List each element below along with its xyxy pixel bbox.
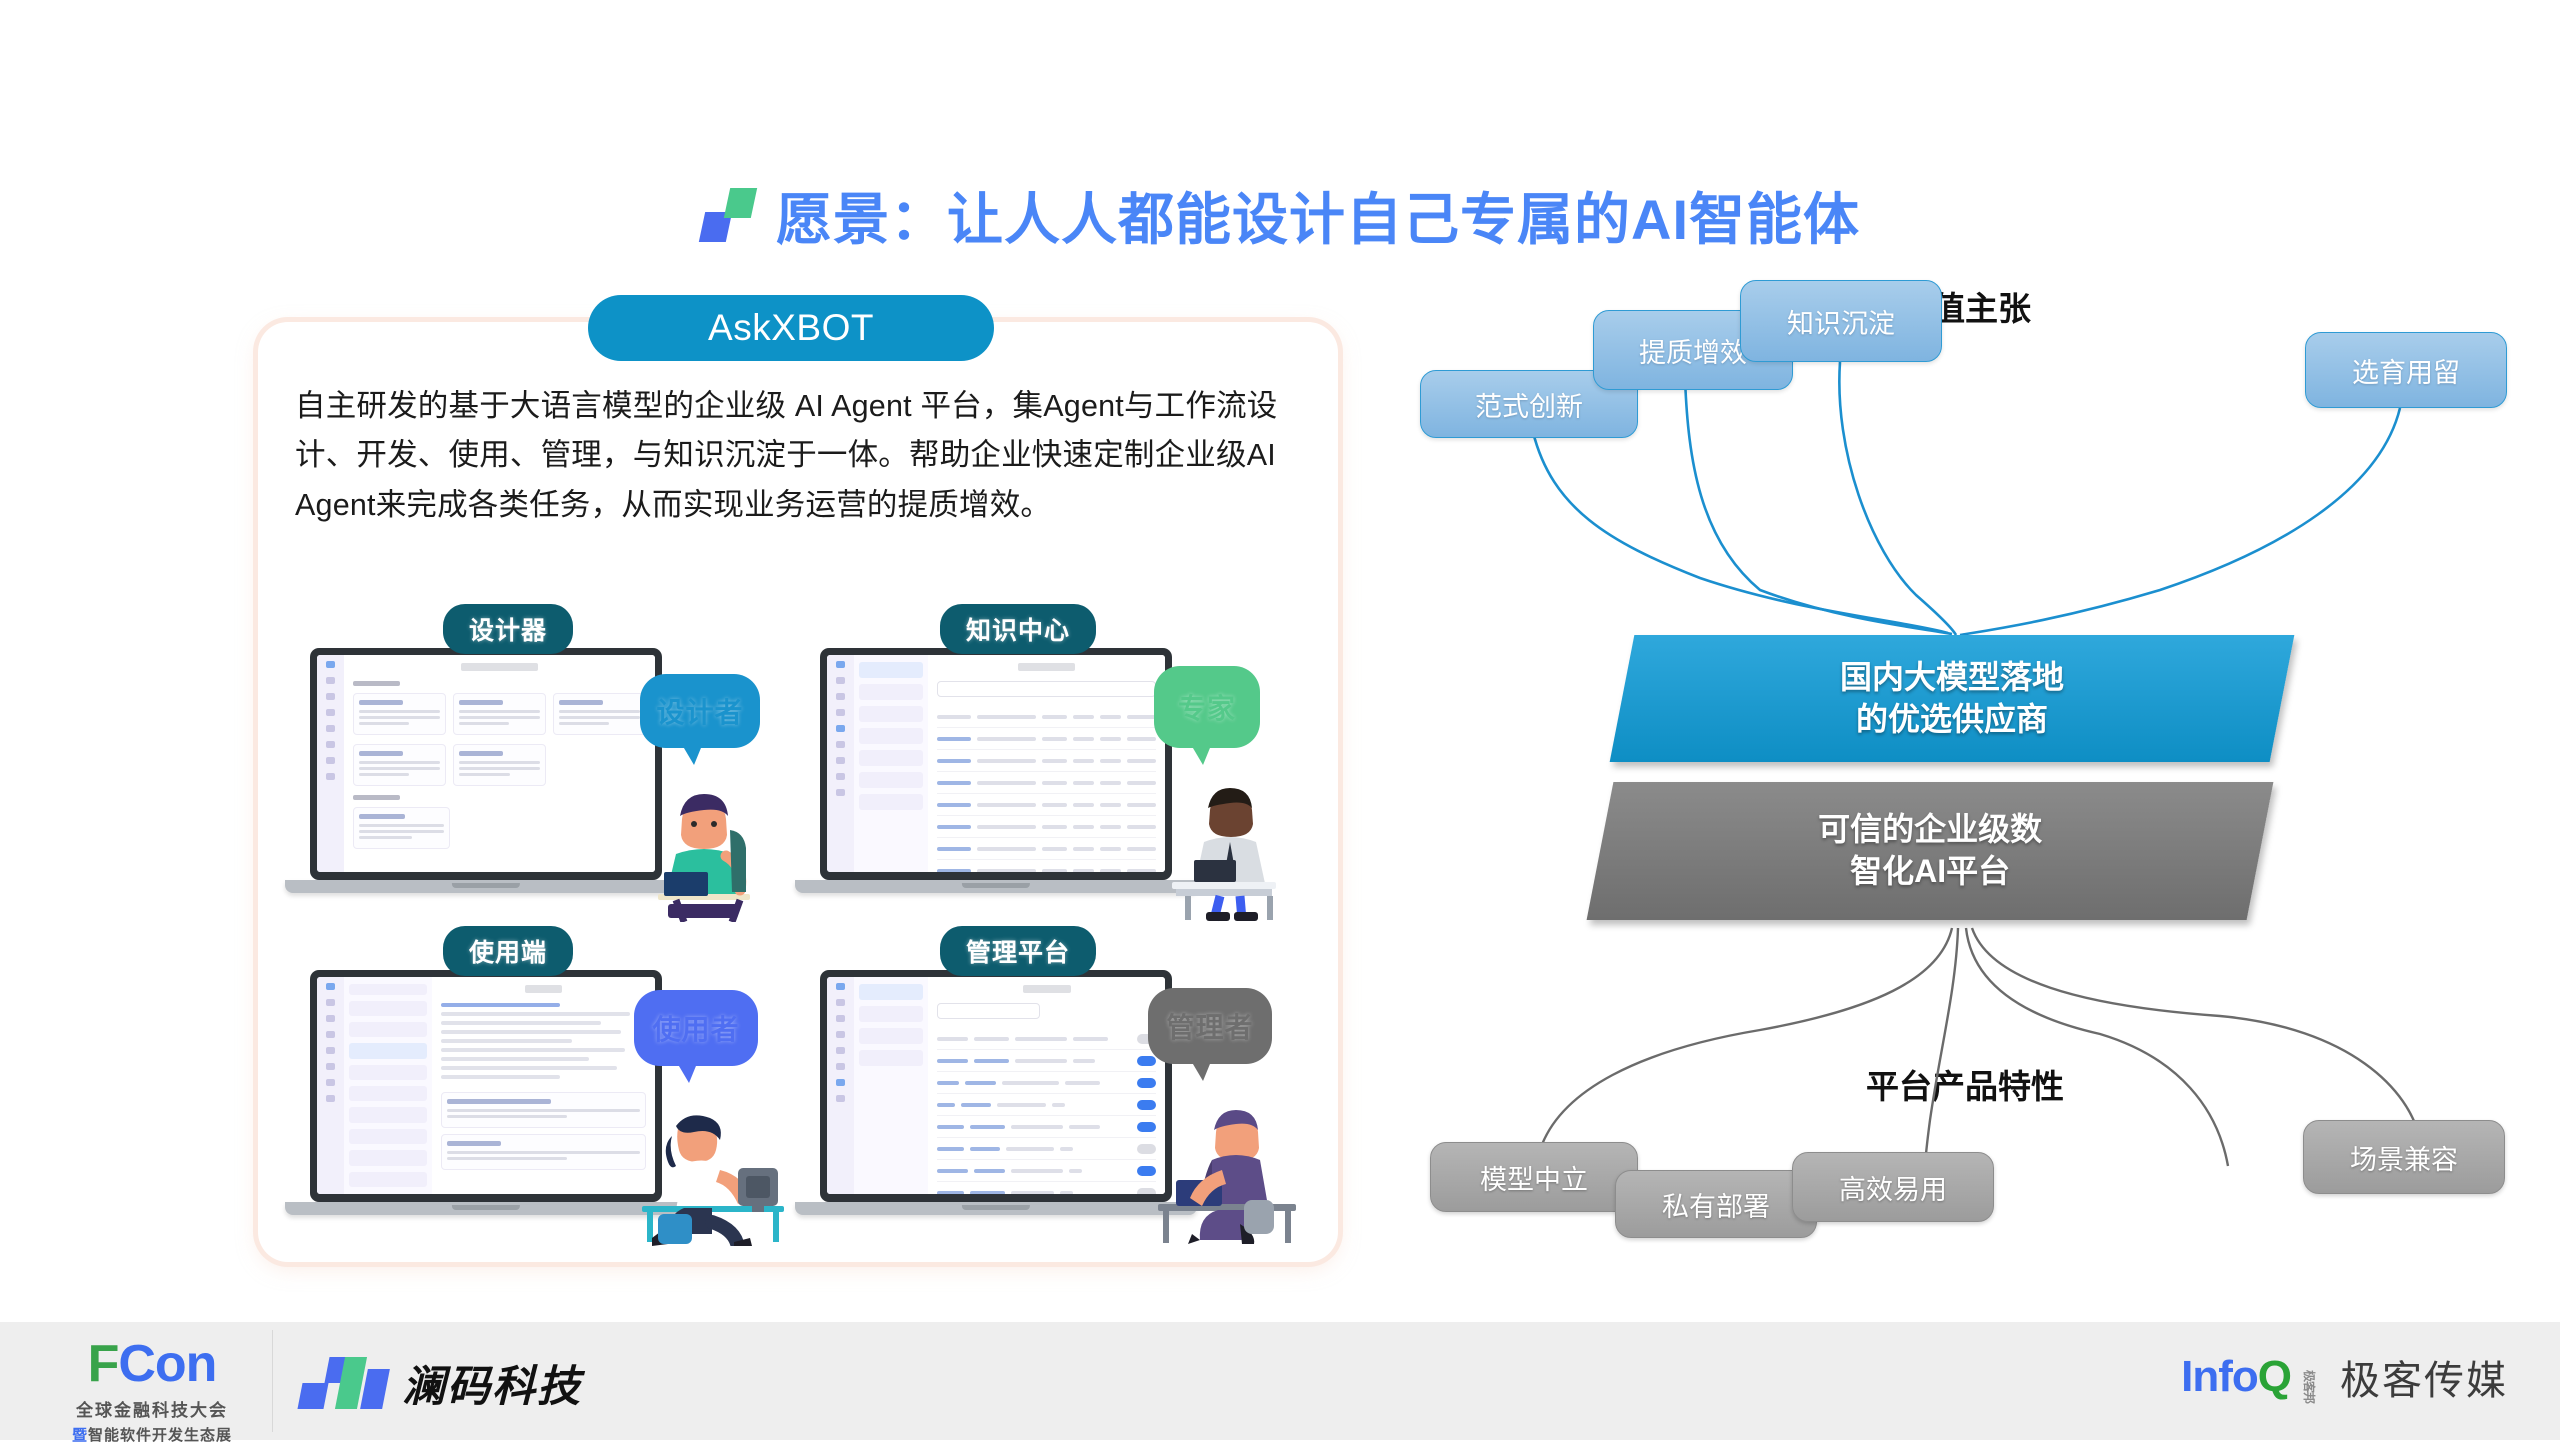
panel-knowledge: 知识中心 — [808, 604, 1228, 904]
page-title: 愿景：让人人都能设计自己专属的AI智能体 — [0, 170, 2560, 260]
screen-content-designer — [344, 655, 655, 872]
panel-tag-knowledge: 知识中心 — [940, 604, 1096, 654]
title-bullet-icon — [700, 188, 754, 242]
fcon-logo-con: Con — [118, 1335, 216, 1393]
footer-divider — [272, 1330, 273, 1432]
lanma-logo: 澜码科技 — [300, 1352, 582, 1414]
screen-content-knowledge — [928, 655, 1165, 872]
role-bubble-designer: 设计者 — [640, 674, 760, 748]
value-diagram: 价值主张 平台产品特性 范式创新 提质增效 知识沉淀 选育用留 国内大模型落地 … — [1400, 290, 2530, 1280]
person-admin — [1144, 1104, 1302, 1246]
screen-content-client — [432, 977, 655, 1194]
role-bubble-admin: 管理者 — [1148, 988, 1272, 1064]
infoq-media-name: 极客传媒 — [2340, 1348, 2508, 1406]
laptop-knowledge — [820, 648, 1172, 880]
person-user — [628, 1106, 788, 1246]
screen-content-admin — [928, 977, 1165, 1194]
feature-node-2[interactable]: 高效易用 — [1792, 1152, 1994, 1222]
person-designer — [630, 786, 778, 922]
panel-admin: 管理平台 — [808, 926, 1228, 1236]
screen-rail — [827, 655, 854, 872]
laptop-client — [310, 970, 662, 1202]
lanma-mark-icon — [300, 1357, 384, 1409]
screen-sidebar — [854, 655, 928, 872]
value-node-3[interactable]: 选育用留 — [2305, 332, 2507, 408]
role-bubble-user: 使用者 — [634, 990, 758, 1066]
panel-tag-admin: 管理平台 — [940, 926, 1096, 976]
panel-client: 使用端 — [298, 926, 718, 1236]
product-description: 自主研发的基于大语言模型的企业级 AI Agent 平台，集Agent与工作流设… — [295, 382, 1300, 530]
feature-node-1[interactable]: 私有部署 — [1615, 1170, 1817, 1238]
infoq-logo: InfoQ极客邦 极客传媒 — [2181, 1348, 2508, 1406]
center-node-platform[interactable]: 可信的企业级数 智化AI平台 — [1587, 782, 2274, 920]
screen-sidebar — [344, 977, 432, 1194]
center-node-supplier-line1: 国内大模型落地 — [1840, 659, 2064, 695]
lanma-name: 澜码科技 — [402, 1352, 582, 1414]
feature-node-0[interactable]: 模型中立 — [1430, 1142, 1638, 1212]
center-node-platform-line1: 可信的企业级数 — [1818, 811, 2042, 847]
fcon-logo: FCon 全球金融科技大会 暨智能软件开发生态展 — [62, 1338, 242, 1445]
center-node-supplier[interactable]: 国内大模型落地 的优选供应商 — [1610, 635, 2295, 762]
panel-tag-designer: 设计器 — [443, 604, 573, 654]
role-bubble-expert: 专家 — [1154, 666, 1260, 748]
fcon-subtitle2-mark: 暨 — [72, 1427, 88, 1444]
panel-tag-client: 使用端 — [443, 926, 573, 976]
fcon-subtitle: 全球金融科技大会 — [62, 1396, 242, 1421]
page-title-text: 愿景：让人人都能设计自己专属的AI智能体 — [776, 175, 1860, 256]
panel-designer: 设计器 — [298, 604, 718, 904]
screen-rail — [317, 977, 344, 1194]
person-expert — [1148, 780, 1298, 922]
feature-node-3[interactable]: 场景兼容 — [2303, 1120, 2505, 1194]
center-node-supplier-line2: 的优选供应商 — [1856, 701, 2048, 737]
screen-rail — [317, 655, 344, 872]
askxbot-tab[interactable]: AskXBOT — [588, 295, 994, 361]
infoq-logo-sup: 极客邦 — [2301, 1370, 2318, 1403]
center-node-platform-line2: 智化AI平台 — [1850, 853, 2010, 889]
laptop-designer — [310, 648, 662, 880]
screen-rail — [827, 977, 854, 1194]
screen-sidebar — [854, 977, 928, 1194]
fcon-logo-f: F — [88, 1335, 119, 1393]
fcon-subtitle2: 智能软件开发生态展 — [88, 1427, 232, 1444]
infoq-logo-q: Q — [2258, 1352, 2291, 1401]
value-node-2[interactable]: 知识沉淀 — [1740, 280, 1942, 362]
infoq-logo-info: Info — [2181, 1352, 2258, 1401]
laptop-admin — [820, 970, 1172, 1202]
